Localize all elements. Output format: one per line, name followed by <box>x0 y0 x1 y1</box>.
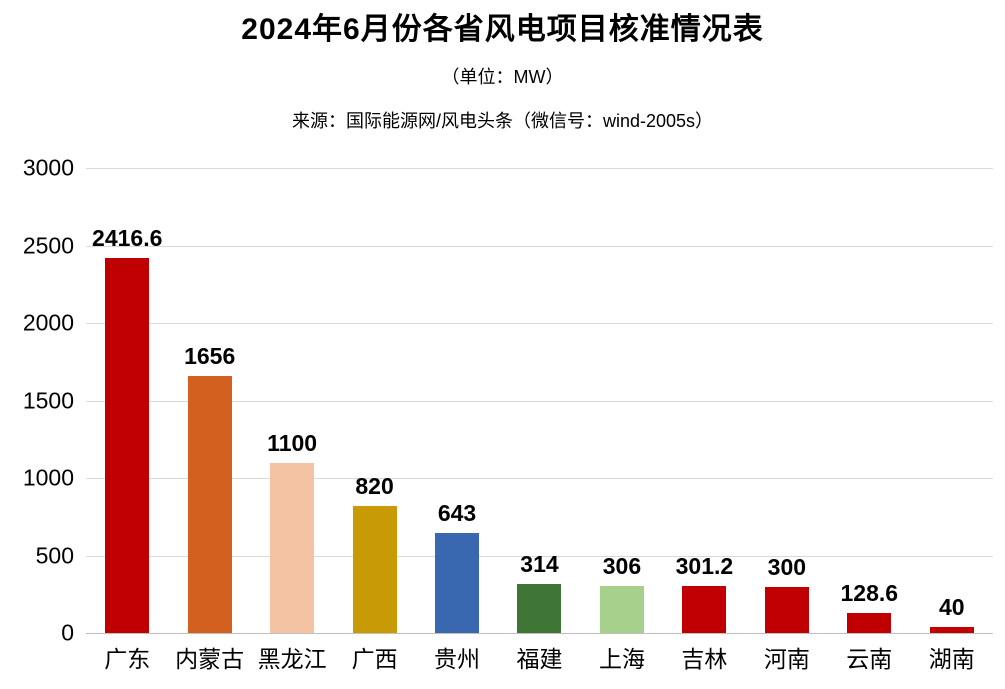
chart-unit-subtitle: （单位：MW） <box>0 67 1005 89</box>
bar-column: 128.6 <box>828 168 910 633</box>
bar-column: 314 <box>498 168 580 633</box>
bar-value-label: 820 <box>355 473 393 500</box>
bar: 301.2 <box>682 586 726 633</box>
x-axis-tick-label: 福建 <box>498 640 580 674</box>
x-axis-tick-label: 内蒙古 <box>168 640 250 674</box>
bar: 1656 <box>188 376 232 633</box>
bar-column: 1100 <box>251 168 333 633</box>
chart-title-block: 2024年6月份各省风电项目核准情况表 （单位：MW） 来源：国际能源网/风电头… <box>0 0 1005 132</box>
x-axis-tick-label: 贵州 <box>416 640 498 674</box>
grid-area: 2416.616561100820643314306301.2300128.64… <box>86 168 993 633</box>
chart-title: 2024年6月份各省风电项目核准情况表 <box>0 12 1005 48</box>
x-axis-tick-label: 湖南 <box>911 640 993 674</box>
chart-source-note: 来源：国际能源网/风电头条（微信号：wind-2005s） <box>0 111 1005 133</box>
y-axis: 050010001500200025003000 <box>0 168 86 633</box>
x-axis-tick-label: 广西 <box>333 640 415 674</box>
bar-value-label: 306 <box>603 553 641 580</box>
bar: 300 <box>765 587 809 634</box>
y-axis-tick-label: 2000 <box>23 310 74 337</box>
bar: 2416.6 <box>105 258 149 633</box>
bar-column: 2416.6 <box>86 168 168 633</box>
plot-area: 050010001500200025003000 2416.6165611008… <box>0 168 1005 689</box>
bar: 1100 <box>270 463 314 634</box>
bar-series: 2416.616561100820643314306301.2300128.64… <box>86 168 993 633</box>
bar-value-label: 643 <box>438 500 476 527</box>
bar-value-label: 2416.6 <box>92 225 162 252</box>
bar-value-label: 1656 <box>184 343 235 370</box>
x-axis-tick-label: 吉林 <box>663 640 745 674</box>
bar: 820 <box>353 506 397 633</box>
bar-value-label: 300 <box>768 554 806 581</box>
bar-value-label: 314 <box>520 551 558 578</box>
bar-value-label: 128.6 <box>841 580 899 607</box>
bar: 128.6 <box>847 613 891 633</box>
bar: 306 <box>600 586 644 633</box>
x-axis-tick-label: 云南 <box>828 640 910 674</box>
x-axis-tick-label: 广东 <box>86 640 168 674</box>
y-axis-tick-label: 500 <box>36 542 74 569</box>
bar-column: 820 <box>333 168 415 633</box>
bar-value-label: 1100 <box>267 430 317 457</box>
bar: 643 <box>435 533 479 633</box>
y-axis-tick-label: 1500 <box>23 387 74 414</box>
wind-power-approval-bar-chart: 2024年6月份各省风电项目核准情况表 （单位：MW） 来源：国际能源网/风电头… <box>0 0 1005 689</box>
x-axis-tick-label: 上海 <box>581 640 663 674</box>
gridline <box>86 633 993 634</box>
x-axis-tick-label: 河南 <box>746 640 828 674</box>
bar-value-label: 301.2 <box>676 553 734 580</box>
y-axis-tick-label: 2500 <box>23 232 74 259</box>
bar: 314 <box>517 584 561 633</box>
bar-column: 643 <box>416 168 498 633</box>
y-axis-tick-label: 3000 <box>23 155 74 182</box>
bar: 40 <box>930 627 974 633</box>
bar-value-label: 40 <box>939 594 965 621</box>
bar-column: 40 <box>911 168 993 633</box>
bar-column: 1656 <box>168 168 250 633</box>
x-axis-tick-label: 黑龙江 <box>251 640 333 674</box>
y-axis-tick-label: 0 <box>61 620 74 647</box>
y-axis-tick-label: 1000 <box>23 465 74 492</box>
x-axis: 广东内蒙古黑龙江广西贵州福建上海吉林河南云南湖南 <box>86 640 993 674</box>
bar-column: 300 <box>746 168 828 633</box>
bar-column: 301.2 <box>663 168 745 633</box>
bar-column: 306 <box>581 168 663 633</box>
